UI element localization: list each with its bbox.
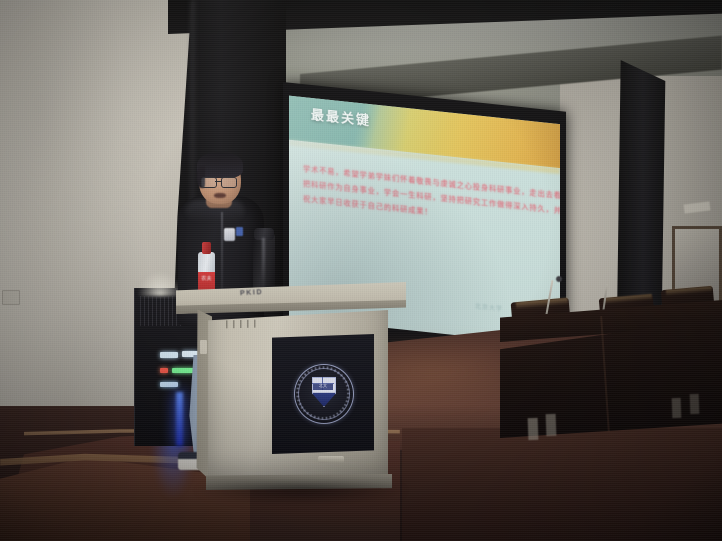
bottle-label-text: 农夫 <box>198 275 215 282</box>
microphone-head-icon <box>556 276 562 282</box>
rack-display-icon <box>160 352 178 358</box>
rack-area-lamp-icon <box>138 272 182 296</box>
stage-skirt-right <box>402 428 722 541</box>
blue-light-reflection <box>150 440 196 500</box>
thermos-highlight <box>262 238 265 294</box>
rack-power-led-icon <box>160 368 168 373</box>
rack-level-meter-icon <box>172 368 194 373</box>
rack-display-icon <box>160 382 178 387</box>
glasses-lens-right <box>221 177 237 188</box>
speaker-badge <box>224 228 235 241</box>
dais-foot <box>528 418 539 440</box>
speaker-badge-ribbon <box>236 227 243 236</box>
podium-shadow <box>196 482 406 504</box>
podium-vent-slots <box>226 320 256 329</box>
podium-drawer-handle[interactable] <box>318 456 344 463</box>
glasses-bridge <box>215 181 221 182</box>
light-switch-plate[interactable] <box>2 290 20 305</box>
bottle-cap <box>202 242 211 254</box>
dais-foot <box>546 414 557 436</box>
slide-body-text: 学术不易，希望学弟学妹们怀着敬畏与虔诚之心投身科研事业，走出去看看外面的世界 把… <box>303 161 549 232</box>
blue-led-strip-icon <box>176 392 183 446</box>
speaker-mouth <box>214 193 226 198</box>
seal-shield-text: 北大 <box>316 383 330 389</box>
glasses-icon <box>201 177 239 186</box>
lecture-hall-photo: 最最关键 学术不易，希望学弟学妹们怀着敬畏与虔诚之心投身科研事业，走出去看看外面… <box>0 0 722 541</box>
podium-latch[interactable] <box>200 340 207 354</box>
glasses-lens-left <box>201 177 217 188</box>
dais-foot <box>672 398 682 418</box>
dais-foot <box>690 394 700 414</box>
